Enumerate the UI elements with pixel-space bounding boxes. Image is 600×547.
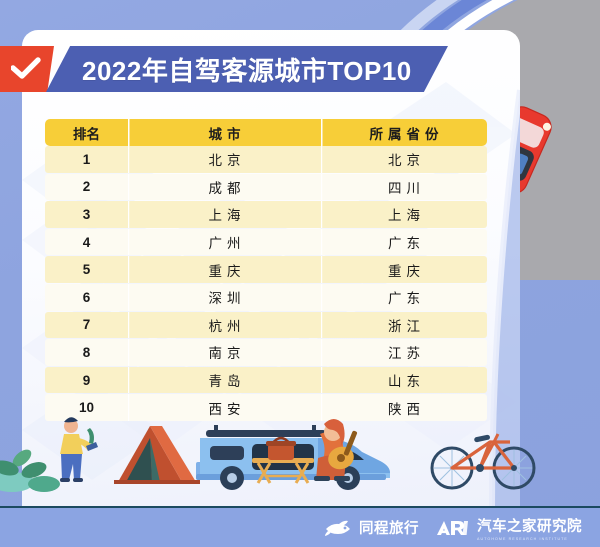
cell-rank: 5 [45,256,128,283]
title-banner: 2022年自驾客源城市TOP10 [0,46,448,92]
table-row[interactable]: 4 广州 广东 [45,229,487,256]
table-row[interactable]: 3 上海 上海 [45,201,487,228]
table-row[interactable]: 1 北京 北京 [45,146,487,173]
cell-city: 广州 [128,229,321,256]
cell-province: 江苏 [321,339,487,366]
hiker-icon [60,417,98,482]
cell-city: 成都 [128,174,321,201]
cell-rank: 3 [45,201,128,228]
table-body: 1 北京 北京 2 成都 四川 3 上海 上海 4 广州 广东 5 重庆 [45,146,487,421]
tent-icon [114,426,200,484]
table-row[interactable]: 9 青岛 山东 [45,367,487,394]
column-header-city: 城市 [128,119,321,146]
cell-rank: 9 [45,367,128,394]
table-row[interactable]: 2 成都 四川 [45,174,487,201]
cell-rank: 4 [45,229,128,256]
cell-city: 青岛 [128,367,321,394]
brand-sub-ari: AUTOHOME RESEARCH INSTITUTE [477,537,582,541]
cell-city: 重庆 [128,256,321,283]
cell-rank: 8 [45,339,128,366]
tongcheng-logo-icon [324,520,352,536]
poster-root: 2022年自驾客源城市TOP10 排名 城市 所属省份 1 北京 北京 2 成都… [0,0,600,547]
check-badge [0,46,54,92]
footer-bar: 同程旅行 汽车之家研究院 AUTOHOME RESEARCH INSTITUTE [0,508,600,547]
cell-province: 重庆 [321,256,487,283]
cell-province: 浙江 [321,312,487,339]
title-banner-body: 2022年自驾客源城市TOP10 [46,46,448,92]
ranking-table: 排名 城市 所属省份 1 北京 北京 2 成都 四川 3 上海 上海 4 广州 [45,119,487,421]
cell-rank: 1 [45,146,128,173]
table-row[interactable]: 8 南京 江苏 [45,339,487,366]
cell-city: 上海 [128,201,321,228]
cell-city: 北京 [128,146,321,173]
check-icon [11,57,41,81]
plant-icon [0,446,60,492]
cell-rank: 2 [45,174,128,201]
cell-rank: 6 [45,284,128,311]
cell-province: 四川 [321,174,487,201]
camping-illustration [0,408,600,508]
ari-logo-icon [436,519,470,537]
table-row[interactable]: 6 深圳 广东 [45,284,487,311]
cell-province: 山东 [321,367,487,394]
brand-tongcheng[interactable]: 同程旅行 [324,517,419,538]
cell-province: 上海 [321,201,487,228]
cell-city: 杭州 [128,312,321,339]
cell-city: 深圳 [128,284,321,311]
table-header-row: 排名 城市 所属省份 [45,119,487,146]
cell-rank: 7 [45,312,128,339]
cell-city: 南京 [128,339,321,366]
bicycle-icon [432,434,534,488]
column-header-province: 所属省份 [321,119,487,146]
column-header-rank: 排名 [45,119,128,146]
brand-name-tongcheng: 同程旅行 [359,517,419,538]
page-title: 2022年自驾客源城市TOP10 [82,51,412,88]
cell-province: 广东 [321,229,487,256]
brand-name-ari: 汽车之家研究院 [477,515,582,536]
table-row[interactable]: 5 重庆 重庆 [45,256,487,283]
table-row[interactable]: 7 杭州 浙江 [45,312,487,339]
cell-province: 北京 [321,146,487,173]
cell-province: 广东 [321,284,487,311]
brand-ari[interactable]: 汽车之家研究院 AUTOHOME RESEARCH INSTITUTE [436,515,582,541]
